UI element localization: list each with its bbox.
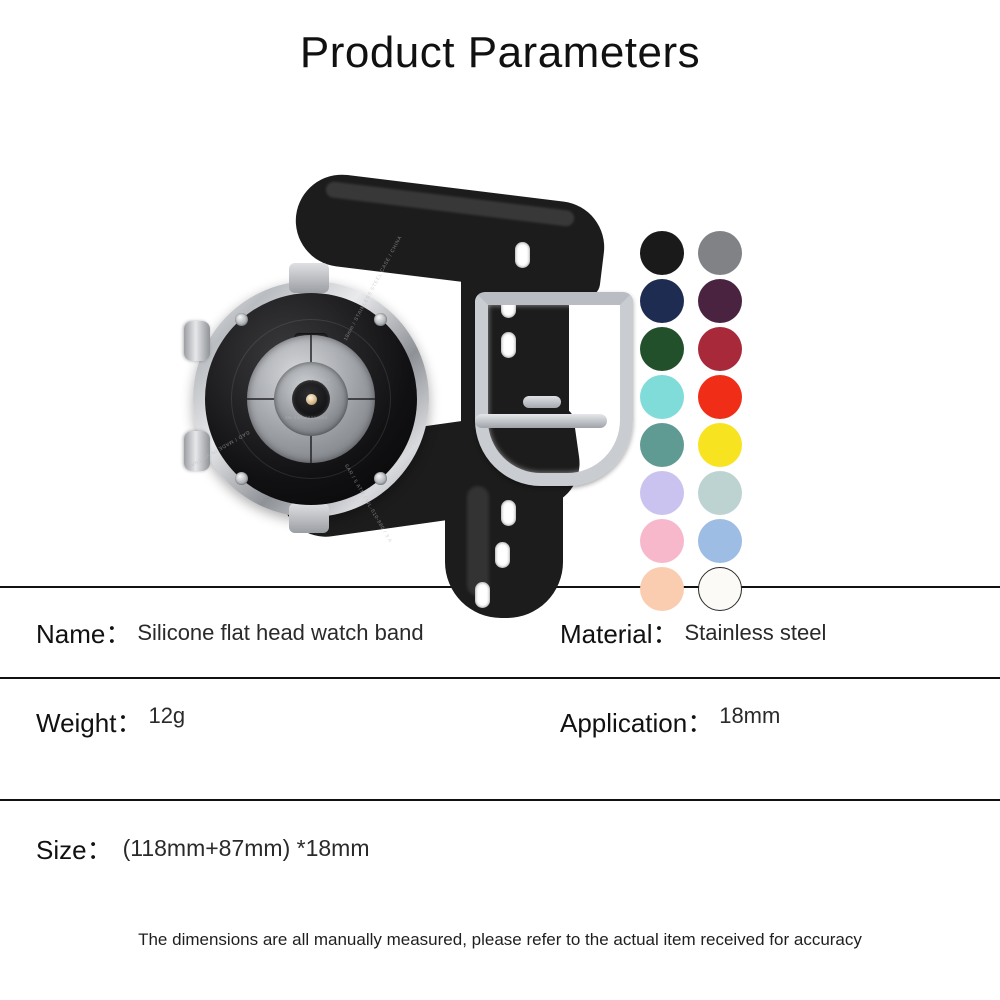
band-hole xyxy=(515,242,530,268)
table-row-size: Size： (118mm+87mm) *18mm xyxy=(0,801,1000,896)
swatch-mint[interactable] xyxy=(640,375,684,419)
spec-value-weight: 12g xyxy=(148,703,185,729)
color-swatch-option-light-blue[interactable] xyxy=(698,517,754,565)
color-swatch-option-peach[interactable] xyxy=(640,565,696,613)
spec-label-weight: Weight： xyxy=(36,703,142,740)
page-title: Product Parameters xyxy=(0,0,1000,86)
swatch-gray[interactable] xyxy=(698,231,742,275)
color-swatch-option-pink[interactable] xyxy=(640,517,696,565)
color-swatch-option-white[interactable] xyxy=(698,565,754,613)
spec-label-name: Name： xyxy=(36,614,131,651)
color-swatch-option-navy-blue[interactable] xyxy=(640,277,696,325)
spec-cell-application: Application： 18mm xyxy=(534,679,1000,799)
sensor-led xyxy=(306,394,317,405)
spec-value-material: Stainless steel xyxy=(684,620,826,646)
watch-button-top xyxy=(184,321,210,361)
color-swatch-grid[interactable] xyxy=(640,229,754,613)
color-swatch-option-yellow[interactable] xyxy=(698,421,754,469)
spec-label-size: Size： xyxy=(36,830,113,867)
sensor-core xyxy=(292,380,330,418)
spec-cell-material: Material： Stainless steel xyxy=(534,588,1000,677)
band-hole xyxy=(495,542,510,568)
color-swatch-option-gray[interactable] xyxy=(698,229,754,277)
buckle-frame xyxy=(475,292,633,486)
watch-lug-top xyxy=(289,263,329,293)
case-screw xyxy=(374,472,387,485)
watch-case-back: 18mm / STAINLESS STEEL CASE / CHINA GAD … xyxy=(193,281,429,517)
swatch-peach[interactable] xyxy=(640,567,684,611)
swatch-black[interactable] xyxy=(640,231,684,275)
case-back-plate: 18mm / STAINLESS STEEL CASE / CHINA GAD … xyxy=(205,293,417,505)
case-screw xyxy=(235,472,248,485)
product-image-smartwatch-with-band: 18mm / STAINLESS STEEL CASE / CHINA GAD … xyxy=(175,96,635,586)
swatch-plum-purple[interactable] xyxy=(698,279,742,323)
band-tail-highlight xyxy=(467,486,489,596)
swatch-yellow[interactable] xyxy=(698,423,742,467)
spec-cell-weight: Weight： 12g xyxy=(0,679,534,799)
swatch-teal[interactable] xyxy=(640,423,684,467)
spec-label-material: Material： xyxy=(560,614,678,651)
swatch-pale-blue-gray[interactable] xyxy=(698,471,742,515)
swatch-pink[interactable] xyxy=(640,519,684,563)
swatch-brick-red[interactable] xyxy=(698,327,742,371)
buckle-pin xyxy=(523,396,561,408)
color-swatch-option-lavender[interactable] xyxy=(640,469,696,517)
swatch-white[interactable] xyxy=(698,567,742,611)
swatch-dark-green[interactable] xyxy=(640,327,684,371)
sensor-inner-ring xyxy=(274,362,348,436)
color-swatch-option-mint[interactable] xyxy=(640,373,696,421)
spec-cell-size: Size： (118mm+87mm) *18mm xyxy=(0,801,1000,896)
color-swatch-option-orange-red[interactable] xyxy=(698,373,754,421)
product-hero: 18mm / STAINLESS STEEL CASE / CHINA GAD … xyxy=(0,86,1000,586)
swatch-light-blue[interactable] xyxy=(698,519,742,563)
table-row-weight-application: Weight： 12g Application： 18mm xyxy=(0,679,1000,799)
spec-value-name: Silicone flat head watch band xyxy=(137,620,423,646)
color-swatch-option-black[interactable] xyxy=(640,229,696,277)
spec-value-application: 18mm xyxy=(719,703,780,729)
color-swatch-option-brick-red[interactable] xyxy=(698,325,754,373)
color-swatch-option-teal[interactable] xyxy=(640,421,696,469)
band-hole xyxy=(475,582,490,608)
heart-rate-sensor-ring xyxy=(247,335,375,463)
spec-cell-name: Name： Silicone flat head watch band xyxy=(0,588,534,677)
color-swatch-option-dark-green[interactable] xyxy=(640,325,696,373)
case-screw xyxy=(235,313,248,326)
color-swatch-option-pale-blue-gray[interactable] xyxy=(698,469,754,517)
spec-value-size: (118mm+87mm) *18mm xyxy=(123,835,370,862)
watch-lug-bottom xyxy=(289,503,329,533)
swatch-orange-red[interactable] xyxy=(698,375,742,419)
measurement-disclaimer: The dimensions are all manually measured… xyxy=(0,896,1000,950)
buckle-crossbar xyxy=(475,414,607,428)
swatch-navy-blue[interactable] xyxy=(640,279,684,323)
swatch-lavender[interactable] xyxy=(640,471,684,515)
band-hole xyxy=(501,500,516,526)
spec-label-application: Application： xyxy=(560,703,713,740)
case-screw xyxy=(374,313,387,326)
color-swatch-option-plum-purple[interactable] xyxy=(698,277,754,325)
watch-button-bottom xyxy=(184,431,210,471)
